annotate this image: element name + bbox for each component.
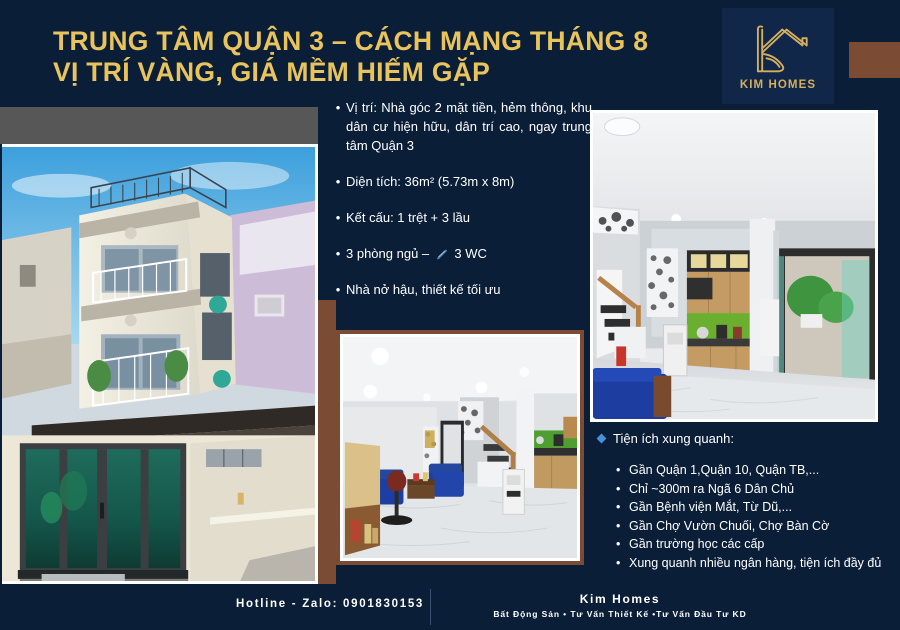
list-item-label: Xung quanh nhiều ngân hàng, tiện ích đầy… [629,555,894,573]
footer-tagline: Bất Động Sản • Tư Vấn Thiết Kế •Tư Vấn Đ… [450,609,790,619]
bullet-icon: • [330,172,346,191]
spec-item-location: • Vị trí: Nhà góc 2 mặt tiền, hẻm thông,… [330,98,592,155]
list-item-label: Gần Quận 1,Quận 10, Quận TB,... [629,462,894,480]
footer-brand-name: Kim Homes [450,592,790,606]
rooms-text-before: 3 phòng ngủ – [346,246,433,261]
spec-text: Kết cấu: 1 trệt + 3 lầu [346,208,592,227]
page-title: TRUNG TÂM QUẬN 3 – CÁCH MẠNG THÁNG 8 VỊ … [53,26,693,88]
list-item: • Gần trường học các cấp [616,536,894,554]
property-specs-list: • Vị trí: Nhà góc 2 mặt tiền, hẻm thông,… [330,98,592,316]
footer-divider [430,589,431,625]
shower-icon [435,248,449,260]
list-item: • Chỉ ~300m ra Ngã 6 Dân Chủ [616,481,894,499]
title-line-1: TRUNG TÂM QUẬN 3 – CÁCH MẠNG THÁNG 8 [53,26,693,57]
spec-text: 3 phòng ngủ – 3 WC [346,244,592,263]
amenities-section: Tiện ích xung quanh: • Gần Quận 1,Quận 1… [598,430,894,573]
photo-left-top-band [0,107,318,144]
bullet-icon: • [330,98,346,155]
title-line-2: VỊ TRÍ VÀNG, GIÁ MỀM HIẾM GẶP [53,57,693,88]
bullet-icon: • [616,499,629,517]
bullet-icon: • [330,244,346,263]
left-photo-accent-bar [318,300,336,590]
rooms-text-after: 3 WC [451,246,487,261]
list-item-label: Gần Chợ Vườn Chuối, Chợ Bàn Cờ [629,518,894,536]
bullet-icon: • [330,280,346,299]
bullet-icon: • [616,481,629,499]
list-item-label: Gần Bệnh viện Mắt, Từ Dũ,... [629,499,894,517]
list-item: • Xung quanh nhiều ngân hàng, tiện ích đ… [616,555,894,573]
spec-text: Diện tích: 36m² (5.73m x 8m) [346,172,592,191]
amenities-title-row: Tiện ích xung quanh: [598,430,894,448]
list-item: • Gần Chợ Vườn Chuối, Chợ Bàn Cờ [616,518,894,536]
diamond-bullet-icon [597,434,607,444]
interior-second-view-photo [340,334,580,561]
brand-logo-text: KIM HOMES [740,79,816,91]
interior-living-room-photo [590,110,878,422]
flyer-footer: hello@realliverentsite.com Hotline - Zal… [0,584,900,630]
bullet-icon: • [616,555,629,573]
bullet-icon: • [616,462,629,480]
house-exterior-photo [2,144,318,584]
real-estate-flyer: TRUNG TÂM QUẬN 3 – CÁCH MẠNG THÁNG 8 VỊ … [0,0,900,630]
brand-logo: KIM HOMES [722,8,834,104]
list-item-label: Gần trường học các cấp [629,536,894,554]
list-item: • Gần Quận 1,Quận 10, Quận TB,... [616,462,894,480]
spec-item-rooms: • 3 phòng ngủ – 3 WC [330,244,592,263]
spec-text: Vị trí: Nhà góc 2 mặt tiền, hẻm thông, k… [346,98,592,155]
hotline-text[interactable]: Hotline - Zalo: 0901830153 [236,598,424,610]
bullet-icon: • [616,518,629,536]
footer-brand: Kim Homes Bất Động Sản • Tư Vấn Thiết Kế… [450,592,790,619]
flyer-header: TRUNG TÂM QUẬN 3 – CÁCH MẠNG THÁNG 8 VỊ … [0,0,900,107]
spec-item-structure: • Kết cấu: 1 trệt + 3 lầu [330,208,592,227]
house-k-monogram-icon [742,21,814,77]
amenities-title: Tiện ích xung quanh: [613,430,734,448]
spec-item-design: • Nhà nở hậu, thiết kế tối ưu [330,280,592,299]
list-item-label: Chỉ ~300m ra Ngã 6 Dân Chủ [629,481,894,499]
spec-item-area: • Diện tích: 36m² (5.73m x 8m) [330,172,592,191]
bullet-icon: • [616,536,629,554]
bullet-icon: • [330,208,346,227]
list-item: • Gần Bệnh viện Mắt, Từ Dũ,... [616,499,894,517]
header-accent-block [849,42,900,78]
amenities-list: • Gần Quận 1,Quận 10, Quận TB,... • Chỉ … [598,462,894,572]
spec-text: Nhà nở hậu, thiết kế tối ưu [346,280,592,299]
